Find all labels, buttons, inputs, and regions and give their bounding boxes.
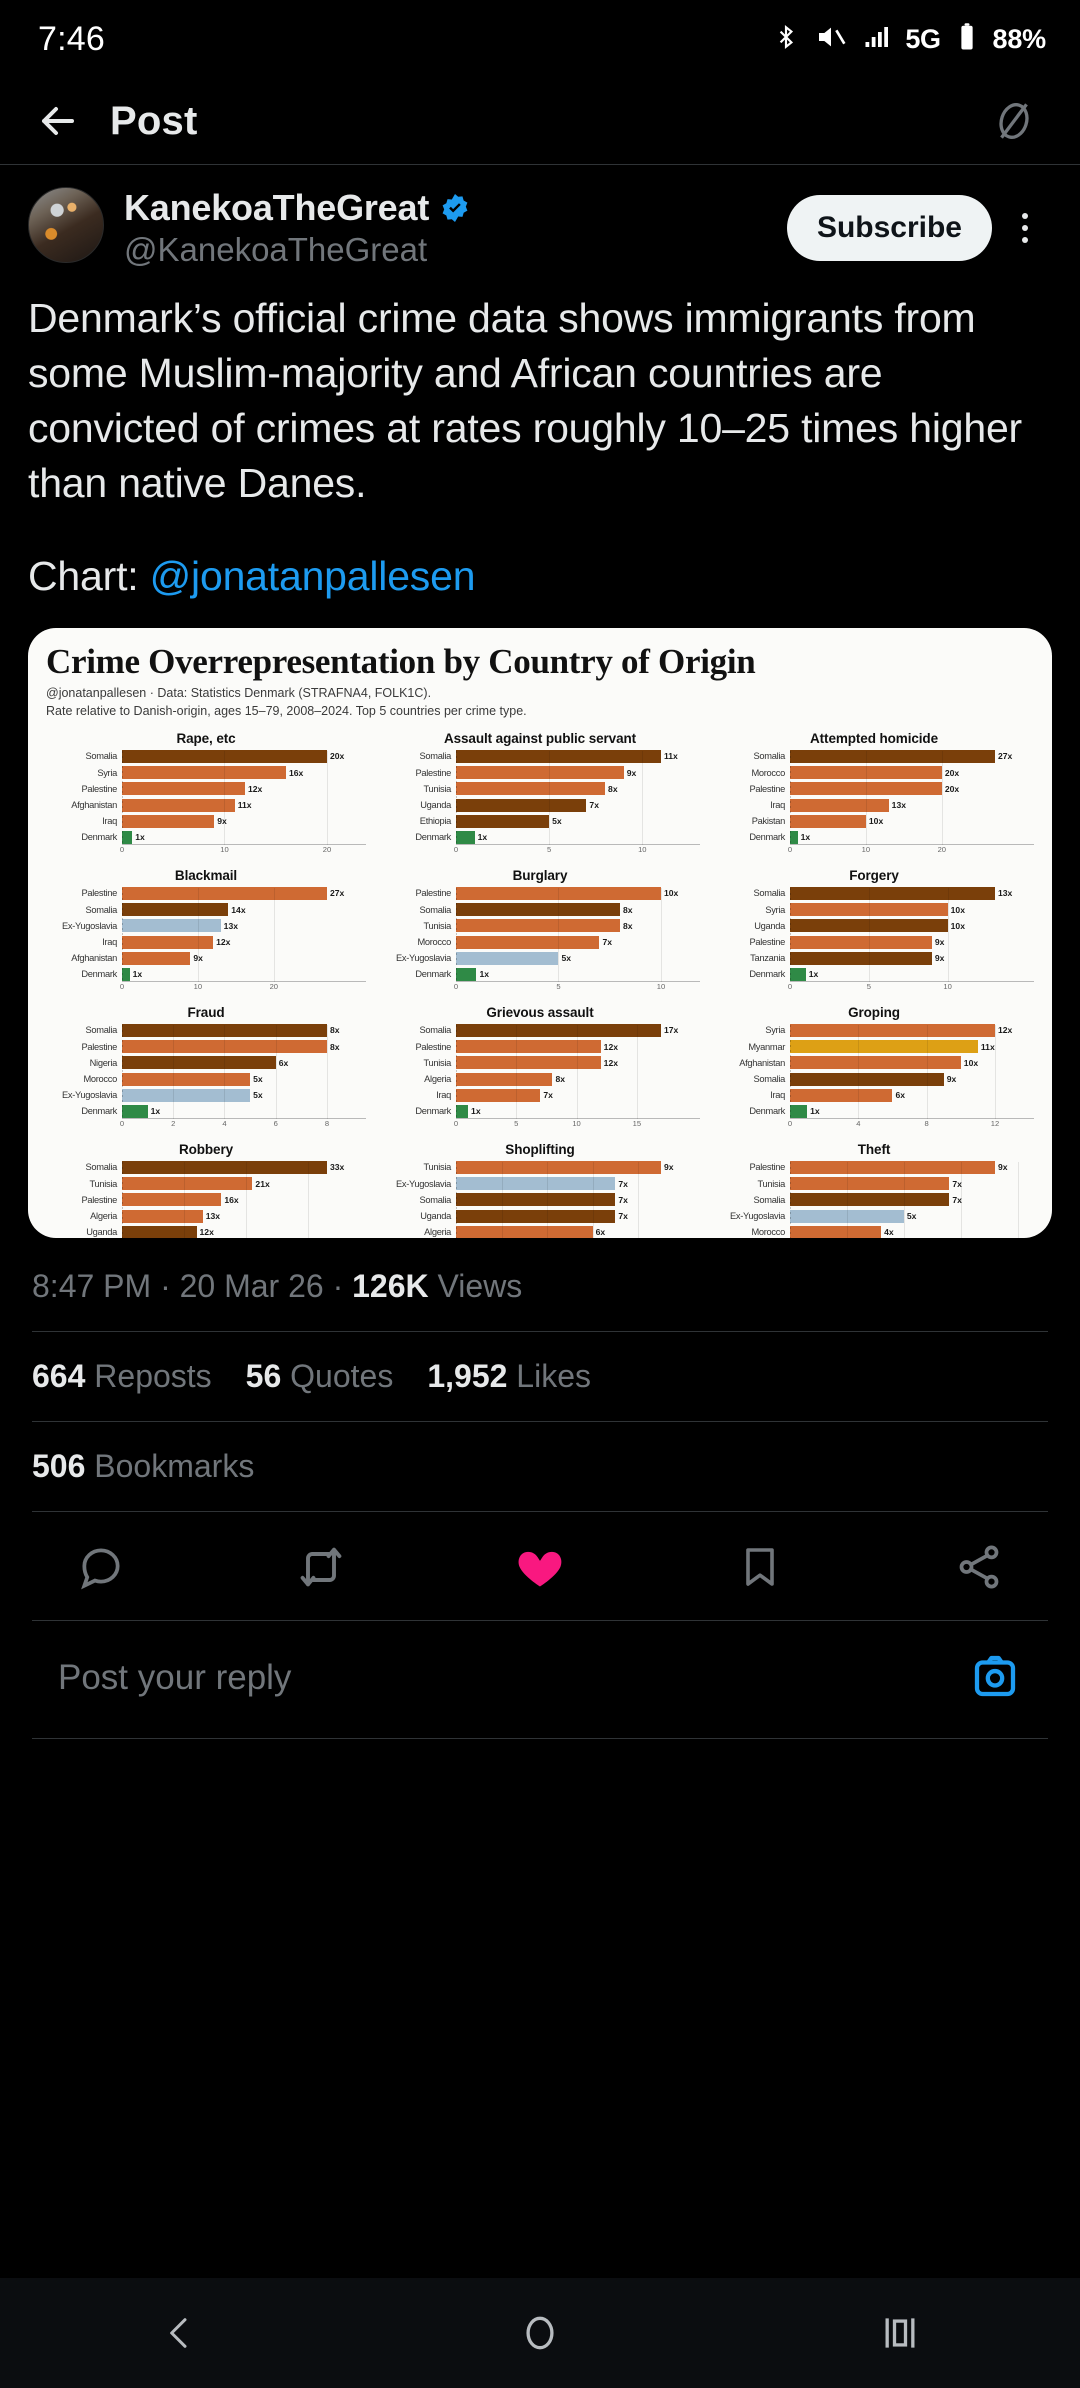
chart-panel-title: Robbery [46,1142,366,1157]
chart-bar-row: Morocco20x [714,766,1034,779]
chart-category-label: Iraq [46,937,122,947]
post-action-bar [28,1512,1052,1620]
chart-bar-track: 5x [456,815,700,828]
chart-bar-row: Denmark1x [714,831,1034,844]
chart-category-label: Uganda [46,1227,122,1237]
chart-bar-value-label: 7x [599,937,612,947]
chart-bar-track: 17x [456,1024,700,1037]
chart-bar-track: 1x [122,1105,366,1118]
chart-category-label: Myanmar [714,1042,790,1052]
chart-category-label: Syria [714,1025,790,1035]
chart-plot-area: Somalia8xPalestine8xNigeria6xMorocco5xEx… [46,1024,366,1132]
back-arrow-icon[interactable] [26,89,90,153]
chart-image-card[interactable]: Crime Overrepresentation by Country of O… [28,628,1052,1238]
chart-x-axis: 0510 [456,981,700,995]
chart-gridline [790,1025,791,1119]
chart-gridline [456,1025,457,1119]
chart-x-tick-label: 2 [171,1119,175,1128]
chart-x-tick-label: 10 [638,845,646,854]
chart-bar-row: Palestine20x [714,782,1034,795]
chart-bar-row: Somalia11x [380,750,700,763]
chart-bar [456,1073,552,1086]
chart-x-tick-label: 5 [514,1119,518,1128]
chart-bar-row: Tunisia8x [380,782,700,795]
chart-panel: ForgerySomalia13xSyria10xUganda10xPalest… [714,866,1034,1003]
chart-bar [456,1024,661,1037]
chart-bar-track: 12x [122,782,366,795]
chart-bar [456,782,605,795]
chart-bar-track: 7x [456,936,700,949]
chart-bar-track: 8x [456,919,700,932]
chart-category-label: Denmark [380,1106,456,1116]
chart-bar-track: 10x [456,887,700,900]
chart-x-tick-label: 6 [274,1119,278,1128]
chart-bar [122,1226,197,1238]
bookmark-icon[interactable] [731,1538,789,1596]
chart-plot-area: Somalia17xPalestine12xTunisia12xAlgeria8… [380,1024,700,1132]
chart-category-label: Denmark [714,832,790,842]
chart-bar-value-label: 14x [228,905,245,915]
chart-gridline [122,888,123,982]
chart-bar [456,903,620,916]
chart-bar-rows: Somalia11xPalestine9xTunisia8xUganda7xEt… [380,750,700,844]
chart-gridline [122,1162,123,1238]
chart-bar-row: Somalia13x [714,887,1034,900]
reposts-stat[interactable]: 664 Reposts [32,1358,212,1395]
author-name-line: KanekoaTheGreat [124,187,471,229]
chart-bar-track: 7x [790,1177,1034,1190]
chart-gridline [790,751,791,845]
chart-panel-title: Assault against public servant [380,731,700,746]
chart-x-tick-label: 20 [323,845,331,854]
chart-category-label: Tanzania [714,953,790,963]
share-icon[interactable] [950,1538,1008,1596]
chart-x-axis: 02468 [122,1118,366,1132]
post-container: KanekoaTheGreat @KanekoaTheGreat Subscri… [0,165,1080,1739]
bookmarks-count: 506 [32,1448,85,1484]
chart-subtitle-line-1: @jonatanpallesen · Data: Statistics Denm… [46,685,1034,703]
chart-bar-rows: Palestine27xSomalia14xEx-Yugoslavia13xIr… [46,887,366,981]
chart-bar-track: 8x [456,782,700,795]
chart-x-tick-label: 0 [454,1119,458,1128]
chart-plot-area: Somalia11xPalestine9xTunisia8xUganda7xEt… [380,750,700,858]
chart-panel-title: Forgery [714,868,1034,883]
chart-gridline [456,751,457,845]
chart-bar-track: 20x [790,766,1034,779]
chart-x-tick-label: 0 [788,982,792,991]
chart-bar [122,799,235,812]
chart-bar-value-label: 1x [806,969,819,979]
chart-bar-value-label: 16x [286,768,303,778]
chart-panel-title: Shoplifting [380,1142,700,1157]
chart-bar [790,750,995,763]
chart-category-label: Palestine [46,784,122,794]
chart-bar-track: 9x [790,952,1034,965]
status-time: 7:46 [38,20,105,59]
reposts-count: 664 [32,1358,85,1394]
chart-bar-track: 12x [790,1024,1034,1037]
chart-category-label: Afghanistan [714,1058,790,1068]
chart-bar [122,831,132,844]
chart-bar-value-label: 20x [942,784,959,794]
chart-bar [456,799,586,812]
android-navigation-bar [0,2278,1080,2388]
chart-bar-value-label: 7x [615,1211,628,1221]
chart-category-label: Denmark [46,1106,122,1116]
post-text-paragraph-2: Chart: @jonatanpallesen [28,549,1052,604]
chart-category-label: Somalia [46,1025,122,1035]
chart-bar [122,936,213,949]
chart-bar-track: 7x [456,1089,700,1102]
avatar[interactable] [28,187,104,263]
chart-gridline [866,751,867,845]
chart-panel: ShopliftingTunisia9xEx-Yugoslavia7xSomal… [380,1140,700,1238]
chart-x-tick-label: 0 [788,845,792,854]
chart-gridline [558,888,559,982]
status-icons: 5G 88% [773,21,1046,58]
chart-bar [122,815,214,828]
chart-bar [122,1210,203,1223]
chart-bar-row: Somalia33x [46,1161,366,1174]
cellular-signal-icon [863,22,893,57]
chart-category-label: Syria [714,905,790,915]
chart-gridline [642,751,643,845]
chart-bar [456,831,475,844]
chart-bar-value-label: 16x [221,1195,238,1205]
chart-bar [456,1210,615,1223]
chart-bar-row: Morocco4x [714,1226,1034,1238]
chart-category-label: Ex-Yugoslavia [380,953,456,963]
chart-bar-value-label: 11x [978,1042,995,1052]
meta-sep-2: · [333,1268,353,1304]
chart-bar-value-label: 12x [245,784,262,794]
chart-x-tick-label: 12 [991,1119,999,1128]
chart-bar-value-label: 8x [552,1074,565,1084]
chart-bar [790,1105,807,1118]
chart-panel-grid: Rape, etcSomalia20xSyria16xPalestine12xA… [46,729,1034,1238]
reply-input[interactable]: Post your reply [58,1658,291,1698]
chart-bar-row: Palestine9x [714,1161,1034,1174]
chart-bar-row: Denmark1x [714,1105,1034,1118]
post-metadata: 8:47 PM · 20 Mar 26 · 126K Views [28,1238,1052,1331]
chart-panel-title: Burglary [380,868,700,883]
chart-bar-row: Tunisia8x [380,919,700,932]
chart-x-tick-label: 8 [325,1119,329,1128]
chart-bar-row: Ex-Yugoslavia5x [714,1210,1034,1223]
chart-bar [122,919,221,932]
chart-gridline [948,888,949,982]
chart-bar-value-label: 21x [252,1179,269,1189]
chart-bar-value-label: 10x [866,816,883,826]
chart-bar-value-label: 17x [661,1025,678,1035]
chart-bar-value-label: 5x [549,816,562,826]
chart-category-label: Somalia [380,905,456,915]
chart-x-tick-label: 5 [556,982,560,991]
chart-bar-value-label: 11x [235,800,252,810]
page-title: Post [110,99,197,144]
chart-bar-row: Syria16x [46,766,366,779]
chart-panel-title: Fraud [46,1005,366,1020]
post-author-row: KanekoaTheGreat @KanekoaTheGreat Subscri… [28,165,1052,269]
chart-gridline [638,1162,639,1238]
chart-panel-title: Theft [714,1142,1034,1157]
chart-panel-title: Rape, etc [46,731,366,746]
chart-bar-row: Syria12x [714,1024,1034,1037]
chart-bar-value-label: 1x [807,1106,820,1116]
chart-bar-row: Somalia9x [714,1073,1034,1086]
chart-gridline [246,1162,247,1238]
chart-gridline [869,888,870,982]
likes-stat[interactable]: 1,952 Likes [427,1358,591,1395]
chart-bar-rows: Palestine10xSomalia8xTunisia8xMorocco7xE… [380,887,700,981]
android-home-icon[interactable] [485,2298,595,2368]
chart-gridline [308,1162,309,1238]
chart-bar-value-label: 13x [995,888,1012,898]
chart-gridline [961,1162,962,1238]
post-body-text: Denmark’s official crime data shows immi… [28,291,1052,604]
chart-bar-track: 6x [456,1226,700,1238]
chart-category-label: Iraq [714,1090,790,1100]
quotes-count: 56 [246,1358,282,1394]
chart-category-label: Palestine [46,1195,122,1205]
chart-bar-track: 13x [790,799,1034,812]
network-type: 5G [905,24,940,55]
chart-bar-value-label: 4x [881,1227,894,1237]
chart-bar-track: 8x [456,903,700,916]
chart-bar-rows: Somalia33xTunisia21xPalestine16xAlgeria1… [46,1161,366,1238]
chart-gridline [198,888,199,982]
chart-bar [122,782,245,795]
chart-bar-row: Somalia14x [46,903,366,916]
chart-panel: FraudSomalia8xPalestine8xNigeria6xMorocc… [46,1003,366,1140]
chart-bar-value-label: 20x [942,768,959,778]
chart-category-label: Uganda [380,1211,456,1221]
chart-bar-row: Somalia17x [380,1024,700,1037]
chart-bar-rows: Syria12xMyanmar11xAfghanistan10xSomalia9… [714,1024,1034,1118]
chart-category-label: Morocco [714,768,790,778]
status-bar: 7:46 5G 88% [0,0,1080,78]
chart-category-label: Denmark [714,969,790,979]
chart-bar [456,1193,615,1206]
android-recents-icon[interactable] [845,2298,955,2368]
chart-bar-value-label: 9x [190,953,203,963]
chart-gridline [456,1162,457,1238]
chart-gridline [1018,1162,1019,1238]
chart-category-label: Somalia [714,1195,790,1205]
chart-bar-row: Tunisia9x [380,1161,700,1174]
chart-panel-title: Blackmail [46,868,366,883]
chart-bar-value-label: 7x [586,800,599,810]
chart-bar-row: Myanmar11x [714,1040,1034,1053]
chart-bar-value-label: 8x [327,1042,340,1052]
chart-bar-track: 16x [122,766,366,779]
chart-category-label: Somalia [380,751,456,761]
chart-bar-value-label: 5x [558,953,571,963]
chart-bar-track: 10x [790,903,1034,916]
chart-bar-row: Syria10x [714,903,1034,916]
chart-bar-value-label: 12x [995,1025,1012,1035]
chart-gridline [927,1025,928,1119]
chart-credit-mention-link[interactable]: @jonatanpallesen [150,553,476,599]
chart-category-label: Denmark [380,969,456,979]
chart-bar-track: 7x [456,799,700,812]
chart-gridline [847,1162,848,1238]
chart-bar-value-label: 9x [944,1074,957,1084]
chart-bar [456,919,620,932]
chart-x-axis: 01020 [790,844,1034,858]
chart-panel: RobberySomalia33xTunisia21xPalestine16xA… [46,1140,366,1238]
chart-bar-row: Iraq12x [46,936,366,949]
chart-bar-value-label: 1x [798,832,811,842]
chart-bar-row: Algeria13x [46,1210,366,1223]
chart-bar [456,968,476,981]
chart-category-label: Palestine [380,1042,456,1052]
chart-category-label: Palestine [714,1162,790,1172]
bookmarks-stat[interactable]: 506 Bookmarks [32,1448,254,1485]
chart-x-axis: 04812 [790,1118,1034,1132]
chart-bar [456,1089,540,1102]
chart-bar [790,1040,978,1053]
chart-bar-track: 5x [456,952,700,965]
chart-bar [790,1024,995,1037]
top-navigation-bar: Post [0,78,1080,164]
chart-bar-track: 33x [122,1161,366,1174]
chart-bar-value-label: 6x [276,1058,289,1068]
subscribe-button[interactable]: Subscribe [787,195,992,261]
chart-bar [790,815,866,828]
chart-bar [790,952,932,965]
chart-bar-track: 13x [122,919,366,932]
reply-icon[interactable] [72,1538,130,1596]
chart-category-label: Tunisia [46,1179,122,1189]
chart-bar-value-label: 13x [889,800,906,810]
volume-mute-icon [815,21,847,58]
chart-category-label: Ex-Yugoslavia [46,921,122,931]
chart-gridline [790,1162,791,1238]
chart-category-label: Ethiopia [380,816,456,826]
chart-bar [122,903,228,916]
chart-bar-row: Morocco7x [380,936,700,949]
chart-gridline [904,1162,905,1238]
repost-icon[interactable] [292,1538,350,1596]
chart-x-axis: 01020 [122,981,366,995]
camera-icon[interactable] [968,1649,1022,1708]
chart-panel: TheftPalestine9xTunisia7xSomalia7xEx-Yug… [714,1140,1034,1238]
chart-x-axis: 051015 [456,1118,700,1132]
chart-subtitle-line-2: Rate relative to Danish-origin, ages 15–… [46,703,1034,721]
chart-category-label: Algeria [46,1211,122,1221]
chart-bar-row: Denmark1x [46,831,366,844]
chart-bar-rows: Somalia17xPalestine12xTunisia12xAlgeria8… [380,1024,700,1118]
chart-bar-value-label: 9x [932,953,945,963]
chart-x-tick-label: 0 [120,845,124,854]
chart-bar [790,1056,961,1069]
more-options-icon[interactable] [998,201,1052,255]
chart-bar-track: 9x [122,952,366,965]
chart-bar-track: 10x [790,919,1034,932]
author-display-name[interactable]: KanekoaTheGreat [124,187,429,229]
chart-bar [122,1089,250,1102]
chart-bar-value-label: 6x [892,1090,905,1100]
reposts-label: Reposts [94,1358,211,1394]
chart-gridline [327,751,328,845]
chart-category-label: Tunisia [380,1058,456,1068]
chart-category-label: Morocco [714,1227,790,1237]
chart-plot-area: Palestine27xSomalia14xEx-Yugoslavia13xIr… [46,887,366,995]
chart-bar-track: 5x [122,1073,366,1086]
chart-bar-value-label: 9x [932,937,945,947]
chart-bar [790,1073,944,1086]
likes-count: 1,952 [427,1358,507,1394]
chart-bar-track: 7x [456,1177,700,1190]
chart-gridline [790,888,791,982]
chart-x-tick-label: 20 [270,982,278,991]
chart-category-label: Palestine [380,888,456,898]
chart-bar-row: Denmark1x [714,968,1034,981]
chart-x-tick-label: 10 [220,845,228,854]
chart-x-tick-label: 15 [633,1119,641,1128]
chart-bar-value-label: 20x [327,751,344,761]
chart-bar-track: 1x [456,968,700,981]
chart-category-label: Somalia [714,888,790,898]
chart-bar-row: Palestine9x [714,936,1034,949]
chart-category-label: Tunisia [380,921,456,931]
quotes-stat[interactable]: 56 Quotes [246,1358,394,1395]
chart-plot-area: Somalia20xSyria16xPalestine12xAfghanista… [46,750,366,858]
chart-bar-track: 11x [456,750,700,763]
chart-gridline [122,1025,123,1119]
like-heart-icon[interactable] [511,1538,569,1596]
chart-category-label: Iraq [380,1090,456,1100]
chart-bar-track: 1x [122,831,366,844]
post-date: 20 Mar 26 [180,1268,324,1304]
chart-x-tick-label: 10 [862,845,870,854]
chart-bar-value-label: 10x [948,905,965,915]
chart-bar [456,1177,615,1190]
chart-bar-track: 6x [790,1089,1034,1102]
chart-category-label: Denmark [46,832,122,842]
chart-category-label: Ex-Yugoslavia [714,1211,790,1221]
chart-panel: GropingSyria12xMyanmar11xAfghanistan10xS… [714,1003,1034,1140]
chart-plot-area: Somalia13xSyria10xUganda10xPalestine9xTa… [714,887,1034,995]
chart-bar-row: Somalia7x [380,1193,700,1206]
android-back-icon[interactable] [125,2298,235,2368]
chart-gridline [276,1025,277,1119]
chart-bar-track: 5x [122,1089,366,1102]
chart-bar-row: Uganda10x [714,919,1034,932]
chart-bar-value-label: 7x [540,1090,553,1100]
chart-bar [790,1177,949,1190]
chart-category-label: Algeria [380,1227,456,1237]
chart-x-tick-label: 5 [547,845,551,854]
chart-panel-title: Grievous assault [380,1005,700,1020]
chart-gridline [516,1025,517,1119]
chart-bar [790,799,889,812]
reply-composer[interactable]: Post your reply [28,1621,1052,1738]
chart-bar-track: 8x [122,1024,366,1037]
chart-bar-row: Somalia7x [714,1193,1034,1206]
views-count: 126K [352,1268,429,1304]
chart-category-label: Palestine [380,768,456,778]
chart-category-label: Tunisia [380,1162,456,1172]
chart-panel-title: Attempted homicide [714,731,1034,746]
chart-panel: Assault against public servantSomalia11x… [380,729,700,866]
chart-bar-row: Tunisia12x [380,1056,700,1069]
chart-category-label: Somalia [46,905,122,915]
grok-icon[interactable] [982,89,1046,153]
chart-bar-track: 14x [122,903,366,916]
chart-bar-track: 7x [456,1210,700,1223]
